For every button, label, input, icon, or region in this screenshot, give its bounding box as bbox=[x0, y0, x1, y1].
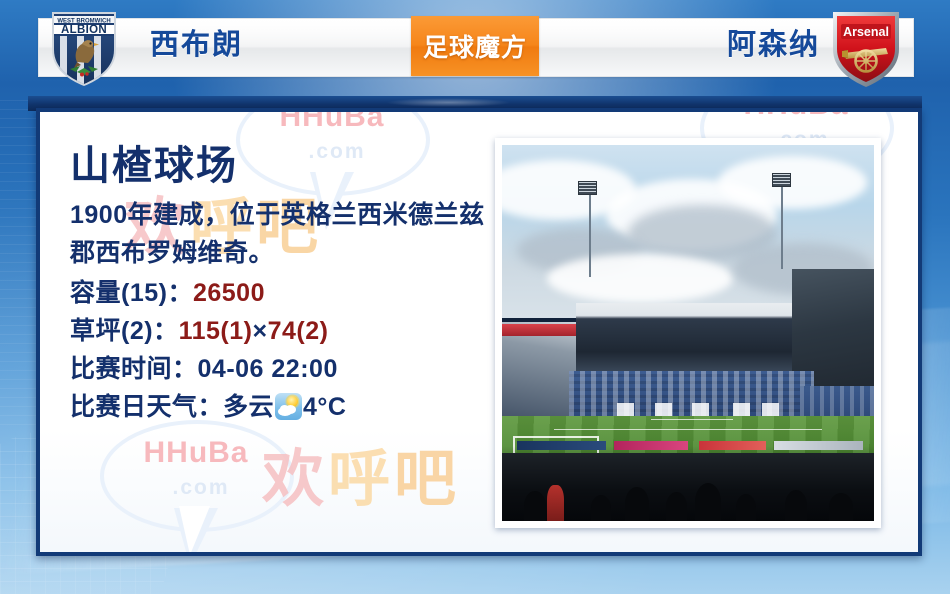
wba-crest-main-text: ALBION bbox=[61, 24, 107, 36]
screenshot-root: WEST BROMWICH ALBION bbox=[0, 0, 950, 594]
floodlight-left-head bbox=[578, 181, 597, 195]
pitch-centre-circle bbox=[651, 419, 733, 420]
watermark-brand-text: HHuBa bbox=[716, 108, 876, 122]
floodlight-right-mast bbox=[781, 179, 783, 269]
stadium-photo bbox=[502, 145, 874, 521]
away-team-crest-arsenal: Arsenal bbox=[828, 6, 904, 88]
match-time-label: 比赛时间： bbox=[70, 355, 198, 383]
watermark-brand-text: HHuBa bbox=[252, 108, 412, 134]
pitch-width-value: 74(2) bbox=[268, 317, 329, 345]
capacity-row: 容量(15)：26500 bbox=[70, 274, 490, 312]
pitch-line-far bbox=[554, 429, 822, 430]
page-title: 山楂球场 bbox=[70, 140, 490, 192]
arsenal-crest-text: Arsenal bbox=[843, 25, 889, 39]
arsenal-crest-icon: Arsenal bbox=[828, 6, 904, 88]
pitch-length-value: 115(1) bbox=[179, 317, 253, 345]
weather-temperature: 4°C bbox=[303, 393, 346, 421]
multiply-symbol: × bbox=[252, 317, 267, 345]
watermark-cn-bottom: 欢呼吧 bbox=[262, 428, 460, 518]
stadium-info-column: 山楂球场 1900年建成，位于英格兰西米德兰兹郡西布罗姆维奇。 容量(15)：2… bbox=[70, 140, 490, 426]
wba-crest-icon: WEST BROMWICH ALBION bbox=[46, 6, 122, 88]
pitch-size-label: 草坪(2)： bbox=[70, 317, 179, 345]
weather-condition: 多云 bbox=[223, 393, 274, 421]
site-logo-badge[interactable]: 足球魔方 bbox=[411, 16, 539, 76]
watermark-cn-char-1: 欢 bbox=[262, 445, 328, 514]
stadium-info-card: HHuBa .com HHuBa .com HHuBa .com 欢呼吧 欢呼吧… bbox=[36, 108, 922, 556]
capacity-value: 26500 bbox=[193, 279, 265, 307]
away-team-name: 阿森纳 bbox=[727, 22, 820, 68]
watermark-brand-text: HHuBa bbox=[116, 436, 276, 470]
capacity-label: 容量(15)： bbox=[70, 279, 193, 307]
match-header: WEST BROMWICH ALBION bbox=[0, 0, 950, 92]
match-weather-row: 比赛日天气：多云4°C bbox=[70, 388, 490, 426]
watermark-bubble-bottom: HHuBa .com bbox=[100, 420, 300, 556]
match-time-row: 比赛时间：04-06 22:00 bbox=[70, 350, 490, 388]
stadium-photo-frame bbox=[495, 138, 881, 528]
site-logo-text: 足球魔方 bbox=[423, 28, 527, 64]
watermark-cn-char-3: 吧 bbox=[394, 445, 460, 514]
foreground-crowd-silhouette bbox=[502, 453, 874, 521]
stand-left-red-signage bbox=[502, 324, 576, 336]
venue-description: 1900年建成，位于英格兰西米德兰兹郡西布罗姆维奇。 bbox=[70, 196, 490, 272]
floodlight-right-head bbox=[772, 173, 791, 187]
floodlight-left-mast bbox=[589, 186, 591, 276]
watermark-domain-text: .com bbox=[126, 476, 276, 500]
watermark-cn-char-2: 呼 bbox=[328, 445, 394, 514]
pitch-size-row: 草坪(2)：115(1)×74(2) bbox=[70, 312, 490, 350]
weather-label: 比赛日天气： bbox=[70, 393, 223, 421]
home-team-name: 西布朗 bbox=[150, 22, 243, 68]
cloudy-sun-icon bbox=[275, 393, 302, 420]
home-team-crest-wba: WEST BROMWICH ALBION bbox=[46, 6, 122, 88]
match-time-value: 04-06 22:00 bbox=[198, 355, 338, 383]
